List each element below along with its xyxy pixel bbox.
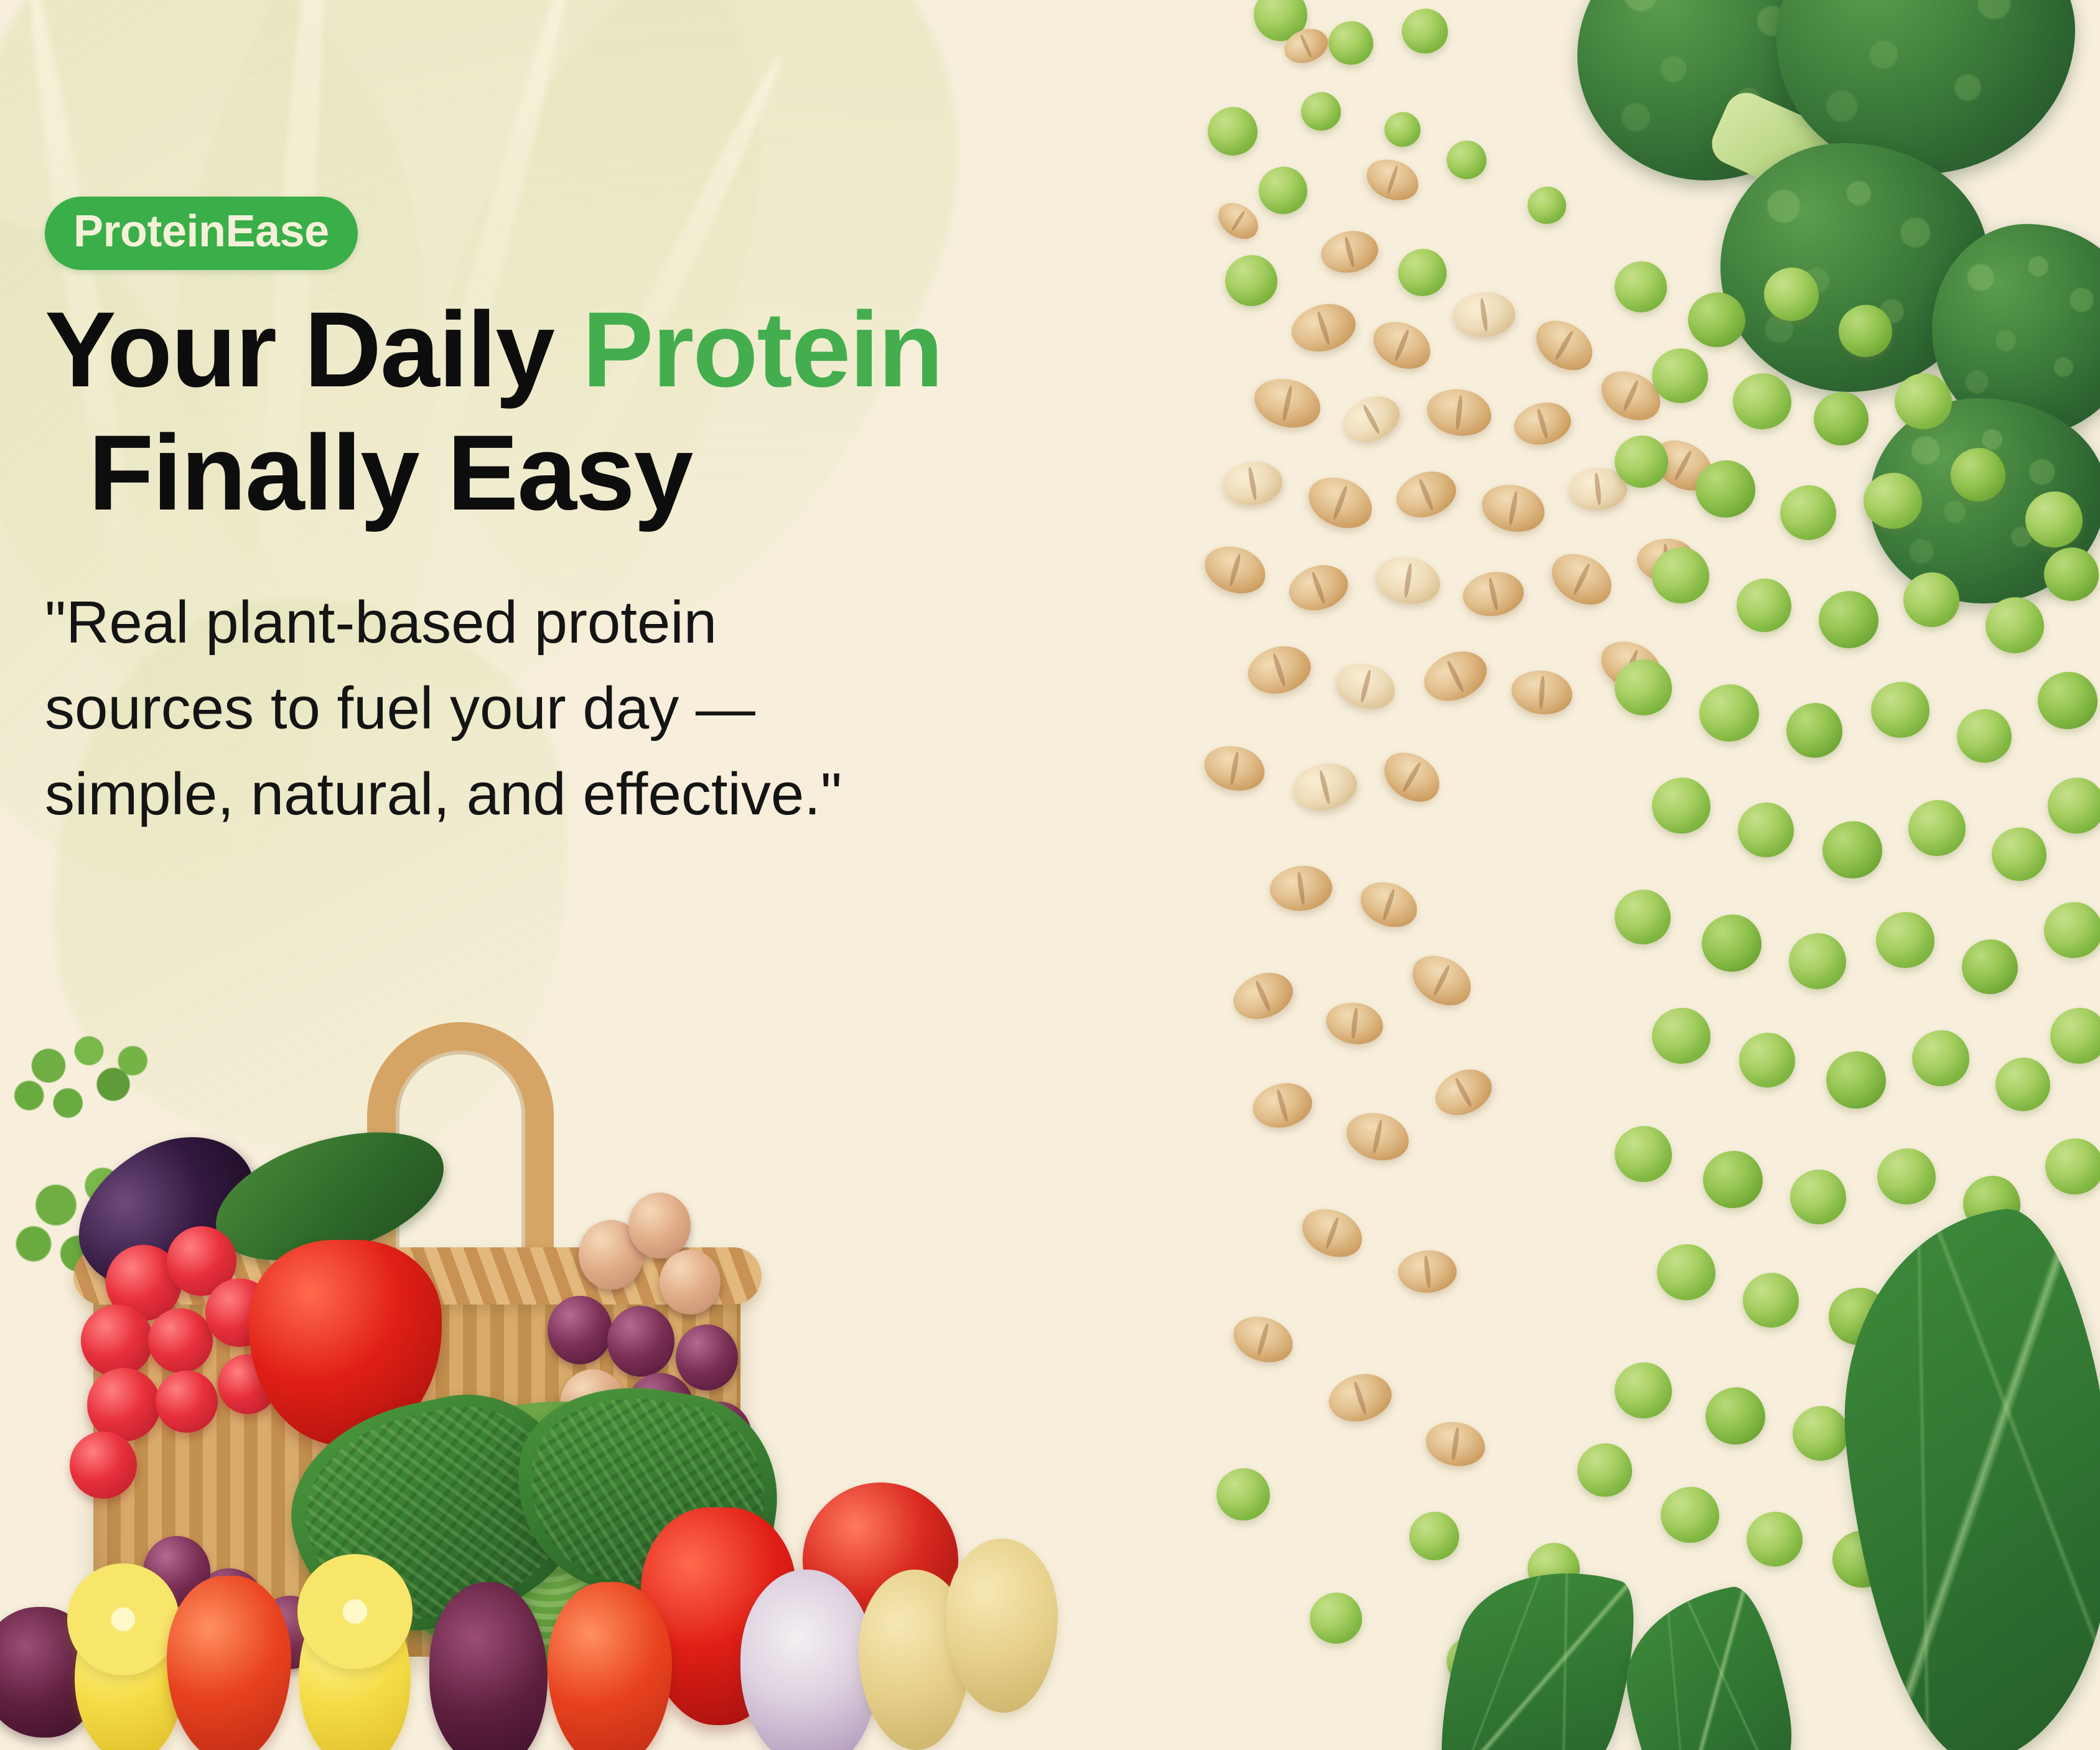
green-pea (1986, 597, 2044, 653)
green-pea (1615, 261, 1667, 312)
green-pea (1908, 800, 1966, 856)
green-pea (1790, 1170, 1846, 1224)
green-pea (1657, 1244, 1715, 1300)
collard-leaf (1823, 1201, 2100, 1750)
pistachio-nut (1396, 1247, 1459, 1295)
radish (87, 1368, 161, 1441)
hero-quote: "Real plant-based protein sources to fue… (45, 580, 966, 838)
green-pea (1615, 890, 1671, 944)
collard-leaf (1613, 1581, 1809, 1750)
pistachio-nut (1226, 964, 1300, 1028)
green-pea (1661, 1487, 1719, 1543)
green-pea (1409, 1512, 1459, 1560)
green-pea (1447, 141, 1486, 179)
pistachio-nut (1220, 457, 1286, 510)
green-pea (1328, 21, 1373, 65)
green-pea (1764, 268, 1819, 321)
pistachio-nut (1332, 658, 1400, 714)
green-pea (1864, 473, 1922, 529)
pistachio-nut (1510, 669, 1574, 717)
red-grape (607, 1306, 674, 1377)
green-pea (1957, 709, 2012, 763)
red-grape (676, 1324, 738, 1390)
hero-text-column: ProteinEase Your Daily Protein Finally E… (45, 197, 1202, 837)
green-pea (1688, 292, 1745, 347)
tomato (548, 1582, 672, 1750)
pistachio-nut (1416, 641, 1495, 711)
pistachio-nut (1249, 373, 1325, 434)
green-pea (1780, 485, 1836, 540)
quote-line-3: simple, natural, and effective." (45, 752, 966, 837)
green-pea (1912, 1030, 1969, 1086)
green-pea (1702, 915, 1762, 972)
pistachio-nut (1288, 757, 1362, 817)
parsley-sprig (0, 1016, 162, 1140)
green-pea (1814, 392, 1869, 445)
pistachio-nut (1459, 567, 1528, 622)
green-pea (1301, 92, 1341, 131)
green-pea (1737, 579, 1791, 632)
green-pea (1706, 1387, 1765, 1445)
pistachio-nut (1323, 1366, 1398, 1430)
pistachio-nut (1267, 862, 1335, 915)
green-pea (1839, 305, 1892, 357)
green-pea (1876, 912, 1934, 968)
pistachio-nut (1324, 1000, 1385, 1046)
green-pea (1951, 448, 2005, 501)
pistachio-nut (1543, 544, 1620, 613)
hero-banner: ProteinEase Your Daily Protein Finally E… (0, 0, 2100, 1750)
green-pea (1903, 572, 1959, 627)
lemon-slice (67, 1563, 179, 1675)
green-pea (1962, 939, 2018, 994)
green-pea (1696, 460, 1755, 518)
green-pea (1652, 547, 1709, 603)
pistachio-nut (1228, 1310, 1298, 1369)
page-title: Your Daily Protein Finally Easy (45, 289, 1202, 535)
brand-badge: ProteinEase (45, 197, 358, 270)
green-pea (1733, 373, 1791, 429)
quote-line-2: sources to fuel your day — (45, 666, 966, 752)
pistachio-nut (1527, 311, 1602, 379)
green-pea (1615, 1126, 1672, 1182)
green-pea (1877, 1148, 1936, 1204)
quote-line-1: "Real plant-based protein (45, 580, 966, 666)
green-pea (1789, 933, 1846, 989)
pistachio-nut (1424, 386, 1493, 439)
headline-line-1: Your Daily Protein (45, 289, 1202, 412)
green-pea (1528, 187, 1566, 224)
green-pea (1310, 1593, 1362, 1644)
green-pea (1786, 703, 1842, 758)
green-pea (2050, 1008, 2100, 1064)
green-pea (1398, 249, 1447, 296)
red-grape (548, 1296, 612, 1364)
pistachio-nut (1478, 480, 1548, 537)
green-pea (1216, 1468, 1270, 1520)
pistachio-nut (1248, 1076, 1317, 1135)
radish (148, 1308, 213, 1373)
green-pea (2044, 547, 2099, 601)
green-pea (1703, 1151, 1763, 1208)
green-pea (1739, 1033, 1795, 1087)
pistachio-nut (1286, 296, 1361, 360)
green-pea (1652, 1008, 1710, 1064)
green-pea (1615, 1362, 1672, 1418)
tomato (167, 1576, 291, 1750)
pistachio-nut (1317, 225, 1382, 279)
green-pea (1992, 827, 2046, 881)
headline-line-2: Finally Easy (88, 412, 1202, 535)
pistachio-nut (1199, 540, 1271, 600)
pistachio-nut (1283, 557, 1354, 619)
headline-plain-text: Your Daily (45, 290, 582, 409)
radish (156, 1371, 218, 1433)
green-pea (2048, 778, 2100, 834)
green-pea (1826, 1051, 1886, 1109)
pistachio-nut (1404, 947, 1479, 1015)
pistachio-nut (1201, 742, 1269, 795)
pistachio-nut (1295, 1201, 1370, 1265)
green-pea (1259, 167, 1307, 214)
green-pea (1652, 778, 1710, 834)
pistachio-nut (1361, 153, 1424, 207)
green-pea (1652, 348, 1708, 403)
green-pea (2038, 672, 2098, 729)
vegetable-basket-photo (0, 1016, 1070, 1750)
green-pea (2025, 491, 2083, 547)
green-pea (2044, 902, 2100, 958)
pistachio-nut (1450, 288, 1518, 341)
pistachio-nut (1242, 638, 1317, 702)
pistachio-nut (1389, 463, 1462, 526)
green-pea (1402, 9, 1448, 54)
green-pea (1699, 684, 1759, 742)
radish (70, 1431, 137, 1499)
pistachio-nut (1423, 1418, 1488, 1470)
pistachio-nut (1373, 553, 1443, 608)
radish (81, 1305, 153, 1377)
pistachio-nut (1336, 387, 1407, 452)
green-pea (1208, 107, 1258, 156)
green-pea (1822, 821, 1882, 878)
pistachio-nut (1355, 875, 1423, 934)
green-pea (1577, 1443, 1632, 1497)
green-pea (1738, 803, 1794, 857)
lemon-slice (297, 1554, 413, 1669)
green-pea (2045, 1138, 2100, 1194)
green-pea (1743, 1273, 1799, 1328)
green-pea (1384, 112, 1421, 147)
green-pea (1793, 1406, 1849, 1461)
green-grape (628, 1193, 691, 1259)
green-grape (660, 1250, 721, 1315)
green-pea (1615, 435, 1668, 488)
pistachio-nut (1510, 396, 1576, 452)
right-food-photo (1179, 0, 2100, 1750)
pistachio-nut (1375, 743, 1449, 811)
green-pea (1747, 1512, 1803, 1566)
green-pea (1819, 591, 1878, 648)
pistachio-nut (1366, 314, 1437, 377)
pistachio-nut (1342, 1107, 1413, 1166)
pistachio-nut (1211, 196, 1265, 245)
green-pea (1225, 255, 1277, 306)
green-pea (1871, 682, 1930, 738)
green-pea (1615, 659, 1672, 715)
headline-accent-word: Protein (582, 290, 943, 409)
pistachio-nut (1301, 469, 1379, 536)
pistachio-nut (1428, 1060, 1500, 1125)
green-pea (1995, 1058, 2050, 1111)
green-pea (1895, 373, 1952, 429)
